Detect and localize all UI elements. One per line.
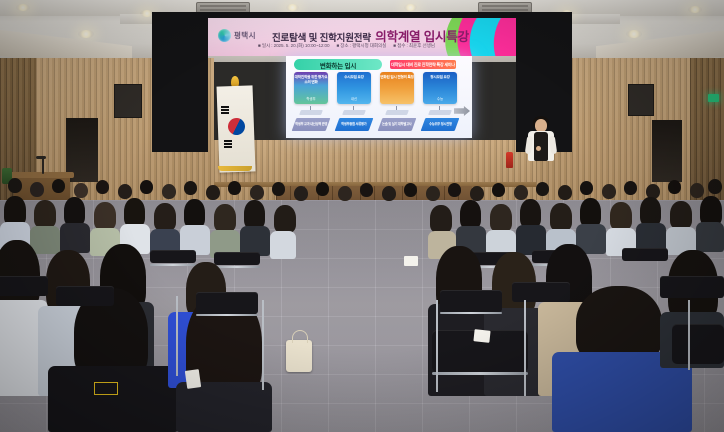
handout-paper — [473, 329, 490, 343]
slide-card: 대학진학을 위한 평가요소의 변화 학생부 — [294, 72, 328, 104]
slide-connector — [380, 106, 414, 115]
event-banner: 평택시 진로탐색 및 진학지원전략 의학계열 입시특강 ■ 일시 : 2025.… — [208, 18, 516, 56]
slide-connector — [423, 106, 457, 115]
slide-header-banner: 변화하는 입시 — [294, 59, 382, 70]
microphone-head — [36, 156, 46, 159]
korean-flag-stand — [214, 76, 258, 180]
ceiling-downlight — [78, 30, 94, 38]
slide-parallelogram: 학생부종합 서류평가 — [335, 118, 374, 131]
city-logo-text: 평택시 — [234, 30, 256, 41]
ceiling-downlight — [404, 4, 417, 11]
microphone-stand — [42, 158, 44, 174]
slide-parallelogram: 수능위주 정시전형 — [421, 118, 460, 131]
fire-extinguisher — [506, 152, 513, 168]
trigram-bar — [224, 143, 232, 145]
wall-panel-right — [628, 84, 654, 116]
slide-header-text: 변화하는 입시 — [320, 60, 356, 70]
slide-card-title: 대학진학을 위한 평가요소의 변화 — [294, 75, 328, 85]
slide-card: 수시모집 요강 내신 — [337, 72, 371, 104]
ceiling-downlight — [626, 30, 642, 38]
slide-parallelogram: 논술 및 실기 대학별고사 — [378, 118, 417, 131]
slide-tag-banner: 대학입시 대비 진로 진학전략 특강 세미나 — [390, 60, 456, 69]
slide-card-title: 정시모집 요강 — [423, 75, 457, 80]
banner-detail-contact: ■ 접수 : 최윤후 선생님 — [393, 43, 435, 49]
slide-card: 정시모집 요강 수능 — [423, 72, 457, 104]
photo-canvas: 평택시 진로탐색 및 진학지원전략 의학계열 입시특강 ■ 일시 : 2025.… — [0, 0, 724, 432]
projection-slide: 변화하는 입시 대학입시 대비 진로 진학전략 특강 세미나 대학진학을 위한 … — [286, 56, 472, 138]
trigram-bar — [224, 146, 232, 148]
trigram-bar — [221, 112, 229, 114]
pyeongtaek-emblem-icon — [218, 29, 231, 42]
slide-card-sub: 학생부 — [294, 96, 328, 101]
handout-paper — [404, 256, 418, 266]
trigram-bar — [221, 106, 229, 108]
slide-parallelogram-label: 수능위주 정시전형 — [429, 122, 452, 126]
slide-card: 변화된 입시 전형의 특징 — [380, 72, 414, 104]
ceiling-downlight — [688, 6, 702, 13]
exit-sign — [708, 94, 719, 102]
slide-card-sub: 수능 — [423, 96, 457, 101]
national-geographic-logo-icon — [94, 382, 118, 395]
banner-title-main: 의학계열 입시특강 — [375, 30, 469, 44]
banner-detail-date: ■ 일시 : 2025. 5. 20.(화) 10:00~12:00 — [258, 43, 329, 49]
slide-parallelogram-label: 학생부 교과 내신성적 반영 — [295, 122, 327, 126]
handout-paper — [185, 369, 201, 389]
slide-parallelogram-label: 논술 및 실기 대학별고사 — [382, 122, 411, 126]
slide-connector-row — [294, 106, 457, 115]
ceiling-downlight — [16, 4, 30, 11]
slide-connector — [337, 106, 371, 115]
front-person-shirt — [48, 366, 178, 432]
tote-bag-handle — [292, 330, 308, 343]
slide-parallelogram: 학생부 교과 내신성적 반영 — [292, 118, 331, 131]
tote-bag — [286, 340, 312, 372]
doorway-right[interactable] — [652, 120, 682, 182]
ceiling-downlight — [286, 4, 299, 11]
banner-detail-place: ■ 장소 : 평택시청 대회의실 — [336, 43, 386, 49]
slide-card-row: 대학진학을 위한 평가요소의 변화 학생부 수시모집 요강 내신 변화된 입시 … — [294, 72, 457, 104]
slide-card-title: 변화된 입시 전형의 특징 — [380, 75, 414, 80]
screen-surround-left — [152, 12, 208, 152]
banner-details: ■ 일시 : 2025. 5. 20.(화) 10:00~12:00 ■ 장소 … — [258, 43, 435, 49]
city-logo: 평택시 — [218, 29, 256, 42]
slide-tag-text: 대학입시 대비 진로 진학전략 특강 세미나 — [391, 62, 455, 68]
trigram-bar — [224, 140, 232, 142]
flag-fringe — [218, 166, 252, 171]
slide-parallelogram-label: 학생부종합 서류평가 — [341, 122, 366, 126]
wall-panel-left — [114, 84, 142, 118]
slide-connector — [294, 106, 328, 115]
speaker-hand — [536, 146, 541, 151]
slide-card-title: 수시모집 요강 — [337, 75, 371, 80]
slide-parallelogram-row: 학생부 교과 내신성적 반영 학생부종합 서류평가 논술 및 실기 대학별고사 … — [294, 118, 457, 131]
trigram-bar — [221, 109, 229, 111]
slide-card-sub: 내신 — [337, 96, 371, 101]
